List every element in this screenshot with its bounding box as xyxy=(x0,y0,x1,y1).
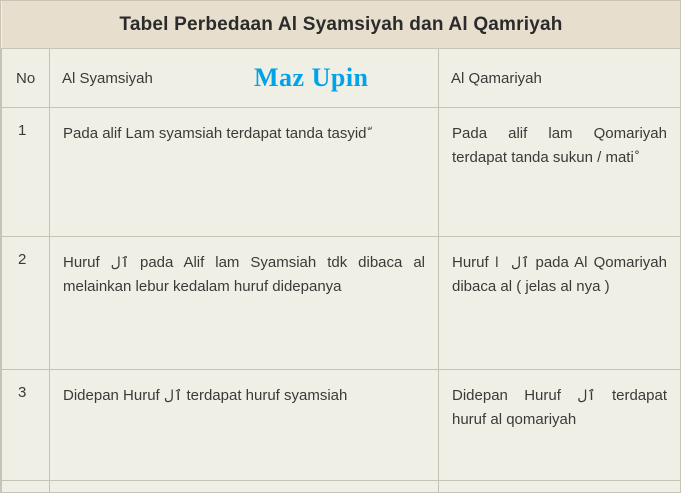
cell-syamsiyah: Didepan Huruf ٱل terdapat huruf syamsiah xyxy=(50,370,439,481)
arabic-gap xyxy=(499,254,511,271)
column-header-syamsiyah: Al Syamsiyah xyxy=(62,70,153,87)
column-header-syamsiyah-cell: Al Syamsiyah Maz Upin xyxy=(50,49,439,108)
arabic-alif-lam: ٱل xyxy=(511,255,529,271)
cell-syamsiyah: Pada alif Lam syamsiah terdapat tanda ta… xyxy=(50,108,439,237)
table-row: 4 Hurufnya ada 14 yaitu ظ س د ذ ن ض ت ر … xyxy=(2,481,681,493)
cell-text-prefix: Didepan Huruf xyxy=(63,387,164,404)
table-title: Tabel Perbedaan Al Syamsiyah dan Al Qamr… xyxy=(2,1,681,49)
table-title-row: Tabel Perbedaan Al Syamsiyah dan Al Qamr… xyxy=(2,1,681,49)
cell-syamsiyah: Hurufnya ada 14 yaitu ظ س د ذ ن ض ت ر ص … xyxy=(50,481,439,493)
row-number: 3 xyxy=(2,370,50,481)
arabic-alif-lam: ٱل xyxy=(577,388,595,404)
cell-text-suffix: terdapat huruf syamsiah xyxy=(182,387,347,404)
comparison-table: Tabel Perbedaan Al Syamsiyah dan Al Qamr… xyxy=(1,1,681,493)
arabic-alif-lam: ٱل xyxy=(111,255,129,271)
cell-qamariyah: Pada alif lam Qomariyah terdapat tanda s… xyxy=(439,108,681,237)
watermark-label: Maz Upin xyxy=(254,63,369,93)
row-number: 2 xyxy=(2,237,50,370)
row-number: 1 xyxy=(2,108,50,237)
cell-syamsiyah-text: Pada alif Lam syamsiah terdapat tanda ta… xyxy=(63,125,367,142)
table-header-row: No Al Syamsiyah Maz Upin Al Qamariyah xyxy=(2,49,681,108)
cell-text-prefix: Huruf xyxy=(452,254,495,271)
table-row: 1 Pada alif Lam syamsiah terdapat tanda … xyxy=(2,108,681,237)
cell-text-prefix: Huruf xyxy=(63,254,111,271)
column-header-no: No xyxy=(2,49,50,108)
cell-qamariyah: Didepan Huruf ٱل terdapat huruf al qomar… xyxy=(439,370,681,481)
cell-qamariyah: Huruf ا ٱل pada Al Qomariyah dibaca al (… xyxy=(439,237,681,370)
cell-text-prefix: Didepan Huruf xyxy=(452,387,577,404)
cell-qamariyah-text: Pada alif lam Qomariyah terdapat tanda s… xyxy=(452,125,667,166)
column-header-qamariyah: Al Qamariyah xyxy=(439,49,681,108)
table-row: 2 Huruf ٱل pada Alif lam Syamsiah tdk di… xyxy=(2,237,681,370)
row-number: 4 xyxy=(2,481,50,493)
table-row: 3 Didepan Huruf ٱل terdapat huruf syamsi… xyxy=(2,370,681,481)
arabic-alif-lam: ٱل xyxy=(164,388,182,404)
header-syamsiyah-wrapper: Al Syamsiyah Maz Upin xyxy=(62,49,426,107)
cell-qamariyah: Hurufnya ada 14 yaitu ا ب غ ح ج ك و خ ف … xyxy=(439,481,681,493)
comparison-table-container: Tabel Perbedaan Al Syamsiyah dan Al Qamr… xyxy=(0,0,681,493)
cell-syamsiyah: Huruf ٱل pada Alif lam Syamsiah tdk diba… xyxy=(50,237,439,370)
